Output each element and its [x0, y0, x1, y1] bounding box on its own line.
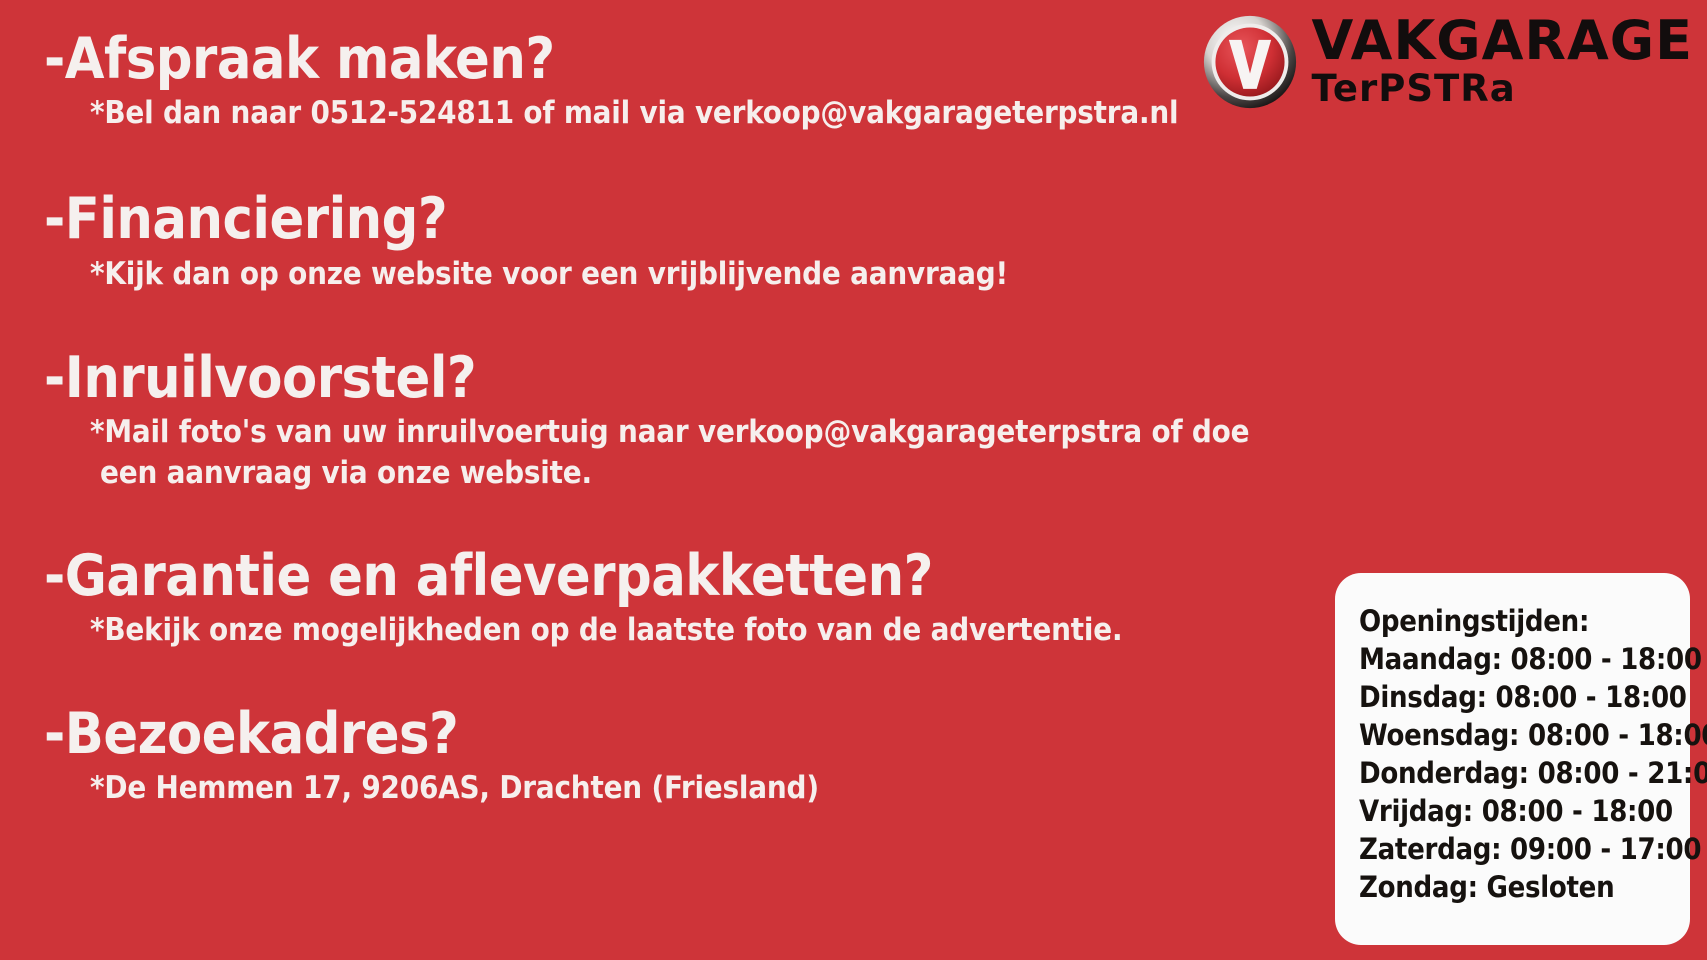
- opening-hours-row-monday: Maandag: 08:00 - 18:00: [1359, 641, 1668, 679]
- section-line: *De Hemmen 17, 9206AS, Drachten (Friesla…: [90, 768, 1324, 809]
- logo-brand-name: VAKGARAGE: [1312, 15, 1693, 68]
- section-heading: -Inruilvoorstel?: [44, 345, 1324, 412]
- section-line: *Mail foto's van uw inruilvoertuig naar …: [90, 412, 1324, 453]
- section-heading: -Bezoekadres?: [44, 701, 1324, 768]
- logo-wordmark: VAKGARAGE TerPSTRa: [1312, 15, 1693, 109]
- content-column: -Afspraak maken? *Bel dan naar 0512-5248…: [44, 26, 1324, 810]
- opening-hours-row-saturday: Zaterdag: 09:00 - 17:00: [1359, 831, 1668, 869]
- opening-hours-row-thursday: Donderdag: 08:00 - 21:00: [1359, 755, 1668, 793]
- section-financiering: -Financiering? *Kijk dan op onze website…: [44, 186, 1324, 294]
- section-line: *Bekijk onze mogelijkheden op de laatste…: [90, 610, 1324, 651]
- opening-hours-row-sunday: Zondag: Gesloten: [1359, 869, 1668, 907]
- opening-hours-row-wednesday: Woensdag: 08:00 - 18:00: [1359, 717, 1668, 755]
- section-heading: -Garantie en afleverpakketten?: [44, 543, 1324, 610]
- opening-hours-row-friday: Vrijdag: 08:00 - 18:00: [1359, 793, 1668, 831]
- logo-dealer-name: TerPSTRa: [1312, 70, 1693, 109]
- section-line: *Kijk dan op onze website voor een vrijb…: [90, 254, 1324, 295]
- section-inruilvoorstel: -Inruilvoorstel? *Mail foto's van uw inr…: [44, 345, 1324, 495]
- opening-hours-row-tuesday: Dinsdag: 08:00 - 18:00: [1359, 679, 1668, 717]
- section-heading: -Financiering?: [44, 186, 1324, 253]
- opening-hours-title: Openingstijden:: [1359, 603, 1668, 641]
- section-line: *Bel dan naar 0512-524811 of mail via ve…: [90, 93, 1324, 134]
- section-line: een aanvraag via onze website.: [100, 453, 1324, 494]
- promo-banner: VAKGARAGE TerPSTRa -Afspraak maken? *Bel…: [0, 0, 1707, 960]
- section-afspraak: -Afspraak maken? *Bel dan naar 0512-5248…: [44, 26, 1324, 134]
- section-heading: -Afspraak maken?: [44, 26, 1324, 93]
- section-bezoekadres: -Bezoekadres? *De Hemmen 17, 9206AS, Dra…: [44, 701, 1324, 809]
- section-garantie: -Garantie en afleverpakketten? *Bekijk o…: [44, 543, 1324, 651]
- opening-hours-card: Openingstijden: Maandag: 08:00 - 18:00 D…: [1335, 573, 1690, 945]
